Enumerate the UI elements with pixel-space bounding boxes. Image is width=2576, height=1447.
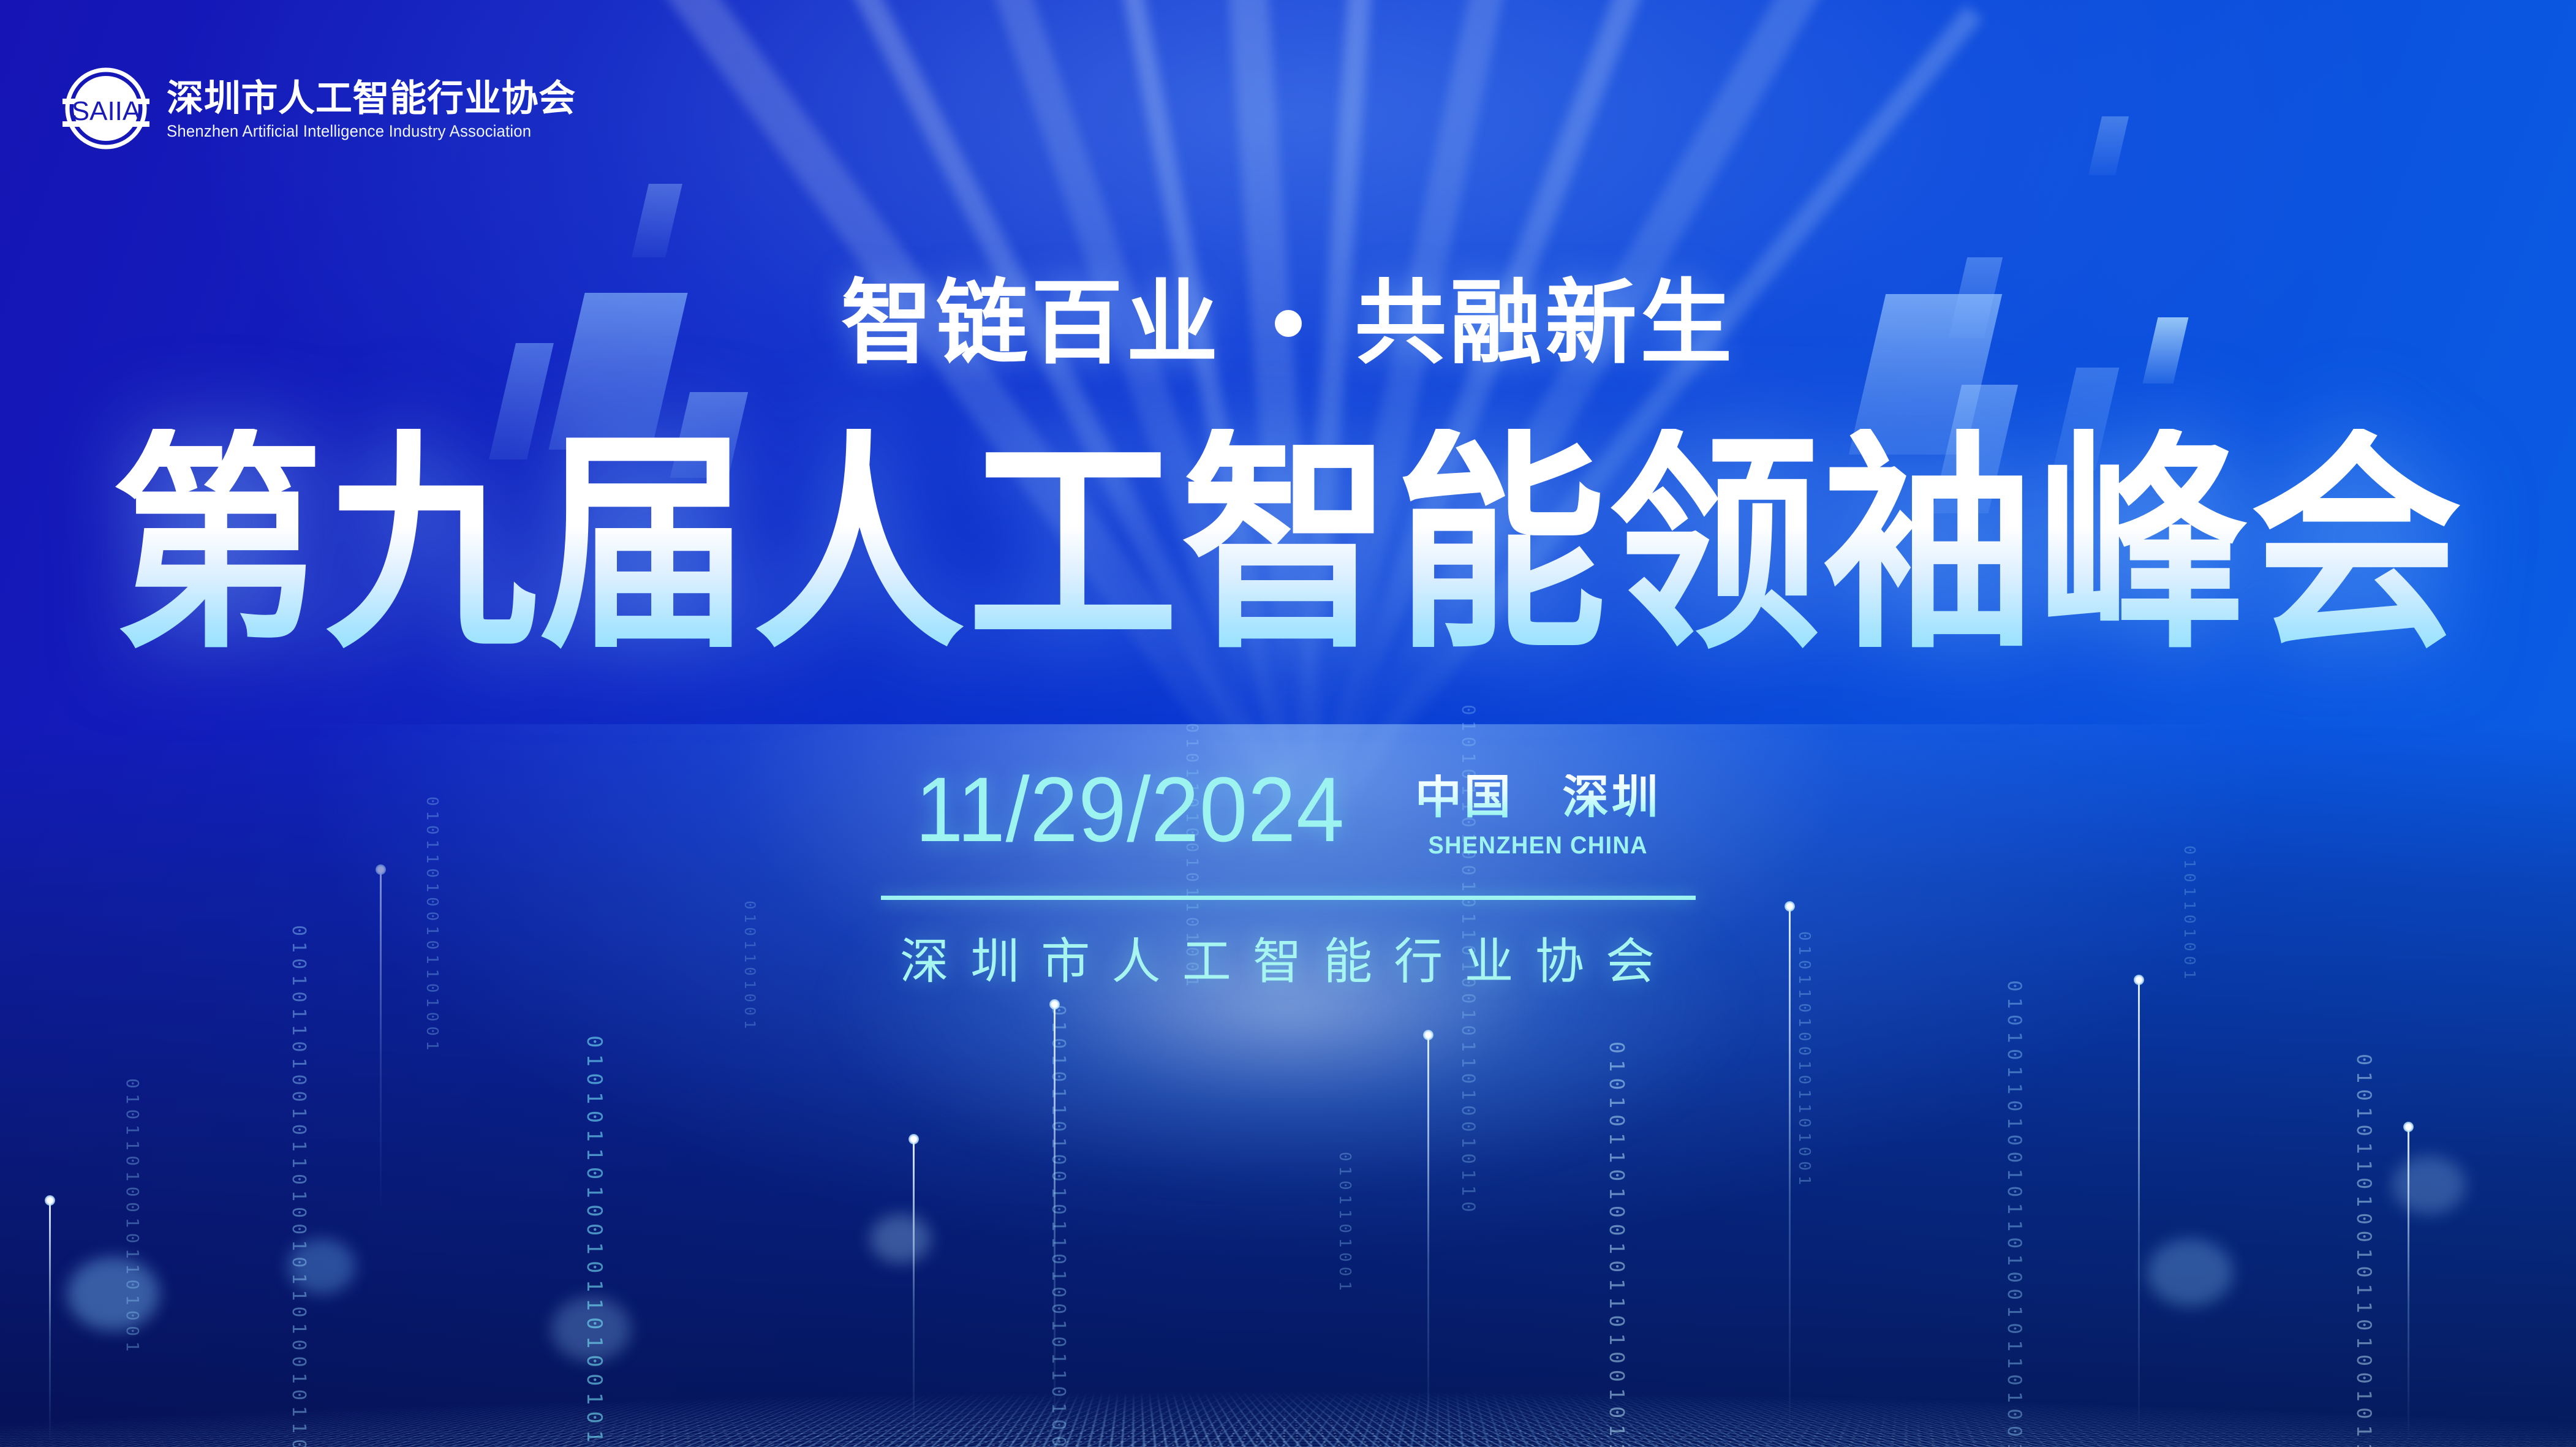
event-title: 第九届人工智能领袖峰会 — [111, 429, 2465, 662]
subtitle-separator-dot — [1275, 310, 1302, 337]
association-name-cn: 深圳市人工智能行业协会 — [167, 79, 576, 118]
meta-divider — [881, 896, 1696, 900]
event-organizer: 深圳市人工智能行业协会 — [900, 934, 1676, 989]
association-name-block: 深圳市人工智能行业协会 Shenzhen Artificial Intellig… — [167, 77, 576, 140]
event-meta-row: 11/29/2024 中国 深圳 SHENZHEN CHINA — [0, 765, 2576, 860]
event-location-en: SHENZHEN CHINA — [1428, 832, 1648, 860]
event-title-wrap: 第九届人工智能领袖峰会 — [0, 429, 2576, 640]
subtitle-left-text: 智链百业 — [841, 271, 1222, 374]
subtitle-right-text: 共融新生 — [1354, 271, 1735, 374]
saiia-logo-text: SAIIA — [72, 96, 141, 126]
association-name-en: Shenzhen Artificial Intelligence Industr… — [167, 123, 564, 140]
saiia-logo-icon: SAIIA — [61, 64, 151, 153]
event-organizer-wrap: 深圳市人工智能行业协会 — [0, 922, 2576, 993]
association-logo[interactable]: SAIIA 深圳市人工智能行业协会 Shenzhen Artificial In… — [61, 64, 576, 153]
event-subtitle: 智链百业 共融新生 — [841, 277, 1736, 369]
event-location-block: 中国 深圳 SHENZHEN CHINA — [1415, 765, 1661, 860]
event-subtitle-row: 智链百业 共融新生 — [0, 277, 2576, 369]
banner-content: SAIIA 深圳市人工智能行业协会 Shenzhen Artificial In… — [0, 0, 2576, 1447]
event-location-cn: 中国 深圳 — [1415, 774, 1661, 821]
event-date: 11/29/2024 — [915, 765, 1345, 855]
event-banner: 01010110100101101001011010010110 0101101… — [0, 0, 2576, 1447]
